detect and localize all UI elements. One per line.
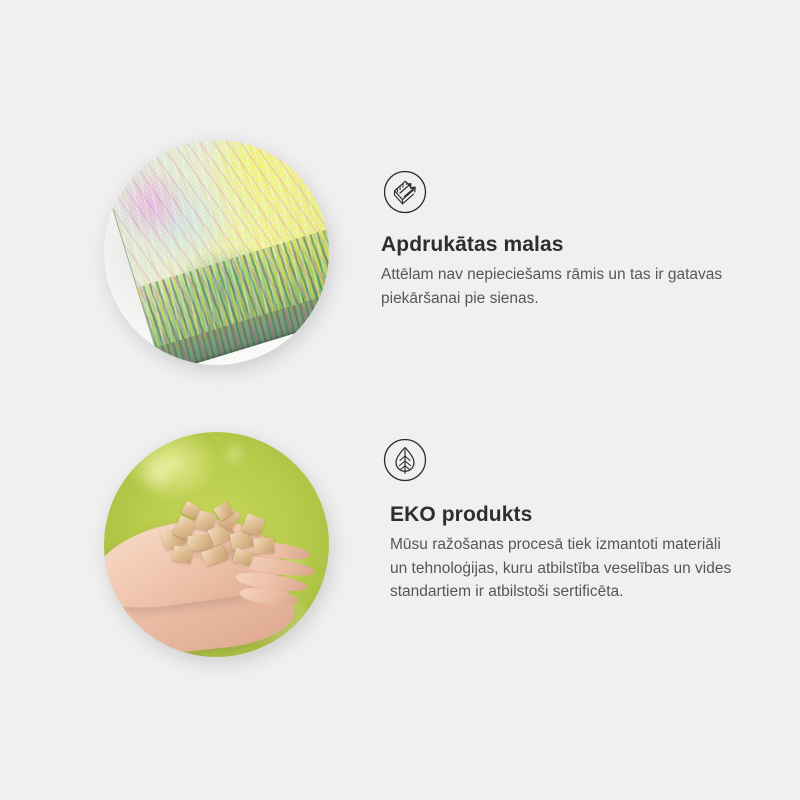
canvas-print-corner-photo <box>104 140 329 365</box>
feature-image-eco-product <box>104 432 329 657</box>
feature-description: Mūsu ražošanas procesā tiek izmantoti ma… <box>390 533 742 604</box>
feature-title: EKO produkts <box>390 502 742 527</box>
feature-text-printed-edges: Apdrukātas malas Attēlam nav nepieciešam… <box>381 232 733 310</box>
feature-title: Apdrukātas malas <box>381 232 733 257</box>
feature-description: Attēlam nav nepieciešams rāmis un tas ir… <box>381 263 733 310</box>
leaf-icon-svg <box>383 438 427 482</box>
wood-chip <box>253 537 274 554</box>
hands-with-wood-chips-photo <box>104 432 329 657</box>
feature-text-eco-product: EKO produkts Mūsu ražošanas procesā tiek… <box>390 502 742 604</box>
feature-image-printed-edges <box>104 140 329 365</box>
printed-edges-icon <box>383 170 427 214</box>
printed-edges-icon-svg <box>383 170 427 214</box>
wood-chips-pile <box>158 504 284 581</box>
leaf-icon <box>383 438 427 482</box>
product-features-panel: Apdrukātas malas Attēlam nav nepieciešam… <box>0 0 800 800</box>
wood-chip <box>172 545 193 562</box>
